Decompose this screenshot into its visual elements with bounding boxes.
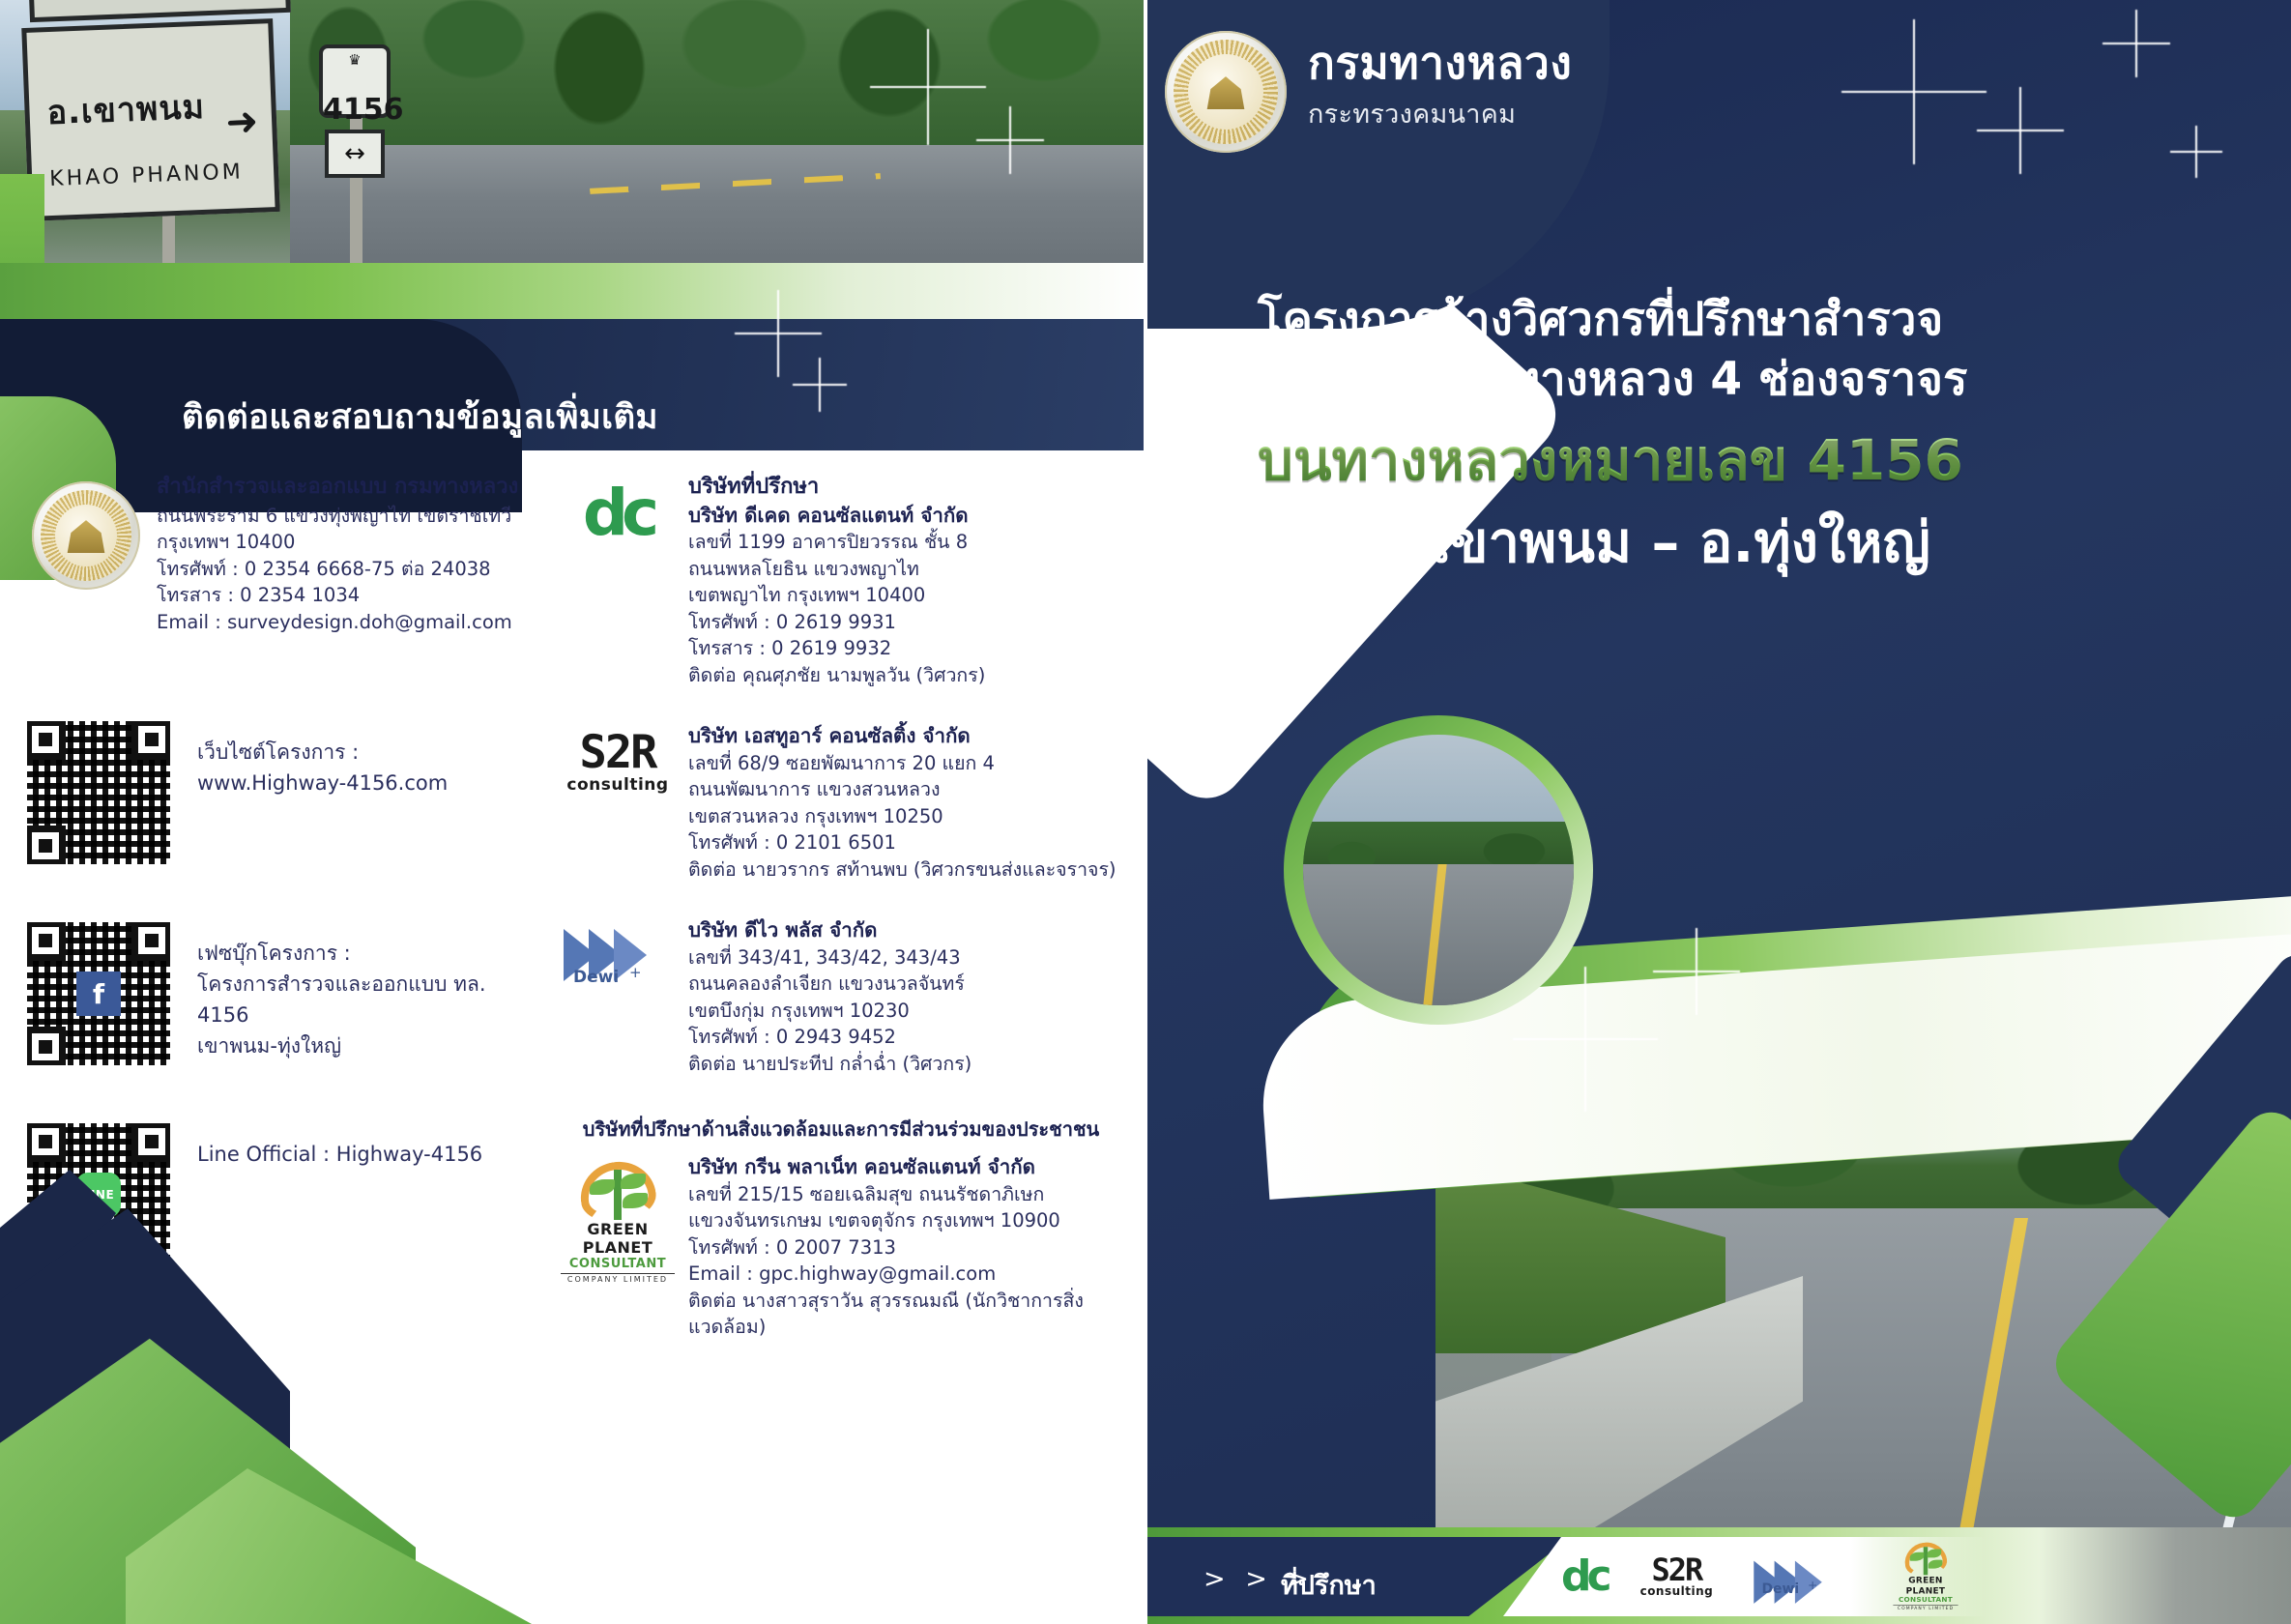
route-number-sign: ♛ 4156 — [319, 44, 391, 118]
dc-logo-icon: dc — [1561, 1555, 1608, 1598]
s2r-logo-icon: S2Rconsulting — [1640, 1555, 1714, 1598]
dewi-line-4: โทรศัพท์ : 0 2943 9452 — [688, 1024, 1121, 1051]
sign-top-english: THUNG YAI — [116, 0, 243, 1]
dc-line-1: เลขที่ 1199 อาคารปิยวรรณ ชั้น 8 — [688, 529, 1121, 556]
qr-code-icon[interactable] — [21, 715, 176, 870]
gp-line-1: เลขที่ 215/15 ซอยเฉลิมสุข ถนนรัชดาภิเษก — [688, 1181, 1121, 1208]
doh-phone: โทรศัพท์ : 0 2354 6668-75 ต่อ 24038 — [157, 556, 541, 583]
qr-line-title: Line Official : Highway-4156 — [197, 1139, 482, 1170]
panel-divider — [1144, 0, 1147, 1624]
gp-line-3: โทรศัพท์ : 0 2007 7313 — [688, 1234, 1121, 1261]
route-number: 4156 — [323, 93, 387, 127]
s2r-consultant-text: บริษัท เอสทูอาร์ คอนซัลติ้ง จำกัด เลขที่… — [688, 723, 1121, 883]
dc-line-6: ติดต่อ คุณศุภชัย นามพูลวัน (วิศวกร) — [688, 662, 1121, 689]
road-surface — [290, 145, 1145, 263]
sign-thai-text: อ.เขาพนม — [46, 80, 206, 138]
dc-line-3: เขตพญาไท กรุงเทพฯ 10400 — [688, 582, 1121, 609]
qr-item-website[interactable]: เว็บไซต์โครงการ : www.Highway-4156.com — [21, 715, 524, 870]
doh-office-text: สำนักสำรวจและออกแบบ กรมทางหลวง ถนนพระราม… — [157, 474, 541, 635]
dc-line-5: โทรสาร : 0 2619 9932 — [688, 635, 1121, 662]
gp-line-5: ติดต่อ นางสาวสุราวัน สุวรรณมณี (นักวิชาก… — [688, 1288, 1121, 1341]
two-way-sign: ↔ — [325, 130, 385, 178]
dewi-logo-icon: Dewi+ — [1754, 1557, 1827, 1595]
doh-address-line-2: กรุงเทพฯ 10400 — [157, 529, 541, 556]
consultant-block-s2r: S2R consulting บริษัท เอสทูอาร์ คอนซัลติ… — [561, 723, 1121, 883]
qr-website-title: เว็บไซต์โครงการ : — [197, 737, 448, 768]
consultants-heading: บริษัทที่ปรึกษา — [688, 474, 1121, 501]
dewi-company-name: บริษัท ดีไว พลัส จำกัด — [688, 917, 1121, 944]
doh-office-name: สำนักสำรวจและออกแบบ กรมทางหลวง — [157, 474, 541, 501]
doh-seal-icon — [1165, 31, 1287, 153]
s2r-line-5: ติดต่อ นายวรากร สท้านพบ (วิศวกรขนส่งและจ… — [688, 856, 1121, 884]
facebook-icon: f — [76, 971, 121, 1016]
dewi-line-2: ถนนคลองลำเจียก แขวงนวลจันทร์ — [688, 971, 1121, 998]
qr-website-url: www.Highway-4156.com — [197, 768, 448, 798]
s2r-line-1: เลขที่ 68/9 ซอยพัฒนาการ 20 แยก 4 — [688, 750, 1121, 777]
qr-item-facebook[interactable]: f เฟซบุ๊กโครงการ : โครงการสำรวจและออกแบบ… — [21, 916, 524, 1071]
s2r-line-4: โทรศัพท์ : 0 2101 6501 — [688, 829, 1121, 856]
qr-website-label: เว็บไซต์โครงการ : www.Highway-4156.com — [197, 715, 448, 798]
cover-header: กรมทางหลวง กระทรวงคมนาคม — [1145, 0, 2291, 193]
sparkle-icon — [2170, 126, 2222, 178]
photo-content — [1303, 735, 1574, 1005]
dewi-consultant-text: บริษัท ดีไว พลัส จำกัด เลขที่ 343/41, 34… — [688, 917, 1121, 1077]
s2r-logo-graphic: S2R consulting — [566, 731, 668, 795]
env-consultant-heading: บริษัทที่ปรึกษาด้านสิ่งแวดล้อมและการมีส่… — [561, 1114, 1121, 1145]
project-title-line-1: โครงการจ้างวิศวกรที่ปรึกษาสำรวจ — [1258, 290, 2282, 350]
qr-facebook-page-2: เขาพนม-ทุ่งใหญ่ — [197, 1030, 524, 1061]
circular-road-photo — [1284, 715, 1593, 1025]
arrow-right-icon: ➜ — [225, 100, 259, 145]
green-planet-text: บริษัท กรีน พลาเน็ท คอนซัลแตนท์ จำกัด เล… — [688, 1154, 1121, 1341]
seal-graphic — [1165, 31, 1287, 153]
project-title-block: โครงการจ้างวิศวกรที่ปรึกษาสำรวจ และออกแบ… — [1258, 290, 2282, 584]
green-divider-band — [0, 263, 1145, 319]
doh-fax: โทรสาร : 0 2354 1034 — [157, 582, 541, 609]
qr-facebook-label: เฟซบุ๊กโครงการ : โครงการสำรวจและออกแบบ ท… — [197, 916, 524, 1061]
seal-graphic — [32, 481, 140, 590]
s2r-line-3: เขตสวนหลวง กรุงเทพฯ 10250 — [688, 803, 1121, 830]
doh-address-line-1: ถนนพระราม 6 แขวงทุ่งพญาไท เขตราชเทวี — [157, 503, 541, 530]
arrow-both-icon: ↔ — [344, 139, 365, 168]
dc-consultant-logo-icon: dc — [561, 474, 675, 688]
qr-facebook-page: โครงการสำรวจและออกแบบ ทล. 4156 — [197, 969, 524, 1030]
s2r-consultant-logo-icon: S2R consulting — [561, 723, 675, 883]
gp-line-4: Email : gpc.highway@gmail.com — [688, 1261, 1121, 1288]
ministry-name: กระทรวงคมนาคม — [1308, 93, 1572, 134]
crest-icon: ♛ — [323, 52, 387, 68]
dc-consultant-text: บริษัทที่ปรึกษา บริษัท ดีเคด คอนซัลแตนท์… — [688, 474, 1121, 688]
consultants-column: dc บริษัทที่ปรึกษา บริษัท ดีเคด คอนซัลแต… — [561, 474, 1121, 1354]
sparkle-icon — [1977, 87, 2064, 174]
road-surface — [1303, 864, 1574, 1005]
consultant-footer-bar: > > > ที่ปรึกษา dc S2Rconsulting Dewi+ G… — [1145, 1527, 2291, 1624]
brochure-page: THUNG YAI อ.เขาพนม ➜ KHAO PHANOM ♛ 4156 … — [0, 0, 2291, 1624]
consultant-block-dc: dc บริษัทที่ปรึกษา บริษัท ดีเคด คอนซัลแต… — [561, 474, 1121, 688]
qr-facebook-title: เฟซบุ๊กโครงการ : — [197, 938, 524, 969]
contact-block-doh: สำนักสำรวจและออกแบบ กรมทางหลวง ถนนพระราม… — [29, 474, 541, 635]
footer-consultant-label: ที่ปรึกษา — [1281, 1564, 1377, 1606]
dewi-logo-graphic: Dewi+ — [564, 925, 672, 985]
footer-logo-row: dc S2Rconsulting Dewi+ GREEN PLANET CONS… — [1561, 1541, 1984, 1612]
project-title-line-2: และออกแบบทางหลวง 4 ช่องจราจร — [1258, 350, 2282, 410]
sparkle-icon — [2102, 10, 2170, 77]
agency-name-block: กรมทางหลวง กระทรวงคมนาคม — [1308, 37, 1572, 134]
back-cover-panel: THUNG YAI อ.เขาพนม ➜ KHAO PHANOM ♛ 4156 … — [0, 0, 1145, 1624]
green-planet-logo-icon: GREEN PLANET CONSULTANT COMPANY LIMITED — [1894, 1543, 1958, 1611]
doh-office-column: สำนักสำรวจและออกแบบ กรมทางหลวง ถนนพระราม… — [29, 474, 541, 649]
dewi-line-5: ติดต่อ นายประทีป กล่ำฉ่ำ (วิศวกร) — [688, 1051, 1121, 1078]
project-title-line-4: สาย อ.เขาพนม – อ.ทุ่งใหญ่ — [1258, 501, 2282, 584]
s2r-company-name: บริษัท เอสทูอาร์ คอนซัลติ้ง จำกัด — [688, 723, 1121, 750]
gp-line-2: แขวงจันทรเกษม เขตจตุจักร กรุงเทพฯ 10900 — [688, 1207, 1121, 1234]
qr-code-icon[interactable]: f — [21, 916, 176, 1071]
consultant-block-green-planet: GREEN PLANET CONSULTANT COMPANY LIMITED … — [561, 1154, 1121, 1341]
green-planet-logo-graphic: GREEN PLANET CONSULTANT COMPANY LIMITED — [561, 1162, 675, 1284]
contact-section-heading: ติดต่อและสอบถามข้อมูลเพิ่มเติม — [182, 391, 658, 444]
consultant-block-dewi: Dewi+ บริษัท ดีไว พลัส จำกัด เลขที่ 343/… — [561, 917, 1121, 1077]
dewi-consultant-logo-icon: Dewi+ — [561, 917, 675, 1077]
green-planet-logo-icon: GREEN PLANET CONSULTANT COMPANY LIMITED — [561, 1154, 675, 1341]
dc-line-4: โทรศัพท์ : 0 2619 9931 — [688, 609, 1121, 636]
dewi-line-3: เขตบึงกุ่ม กรุงเทพฯ 10230 — [688, 998, 1121, 1025]
gp-company-name: บริษัท กรีน พลาเน็ท คอนซัลแตนท์ จำกัด — [688, 1154, 1121, 1181]
sparkle-icon — [1841, 19, 1986, 164]
dc-line-2: ถนนพหลโยธิน แขวงพญาไท — [688, 556, 1121, 583]
dc-logo-graphic: dc — [583, 481, 652, 545]
sign-english-text: KHAO PHANOM — [49, 159, 244, 191]
doh-seal-icon — [29, 474, 143, 635]
dewi-line-1: เลขที่ 343/41, 343/42, 343/43 — [688, 944, 1121, 971]
agency-name: กรมทางหลวง — [1308, 37, 1572, 89]
direction-sign-main: อ.เขาพนม ➜ KHAO PHANOM — [21, 18, 279, 221]
dc-company-name: บริษัท ดีเคด คอนซัลแตนท์ จำกัด — [688, 503, 1121, 530]
qr-line-label: Line Official : Highway-4156 — [197, 1117, 482, 1170]
s2r-line-2: ถนนพัฒนาการ แขวงสวนหลวง — [688, 776, 1121, 803]
doh-email: Email : surveydesign.doh@gmail.com — [157, 609, 541, 636]
road-sign-photo: THUNG YAI อ.เขาพนม ➜ KHAO PHANOM ♛ 4156 … — [0, 0, 1145, 263]
project-title-line-3: บนทางหลวงหมายเลข 4156 — [1258, 420, 2282, 501]
